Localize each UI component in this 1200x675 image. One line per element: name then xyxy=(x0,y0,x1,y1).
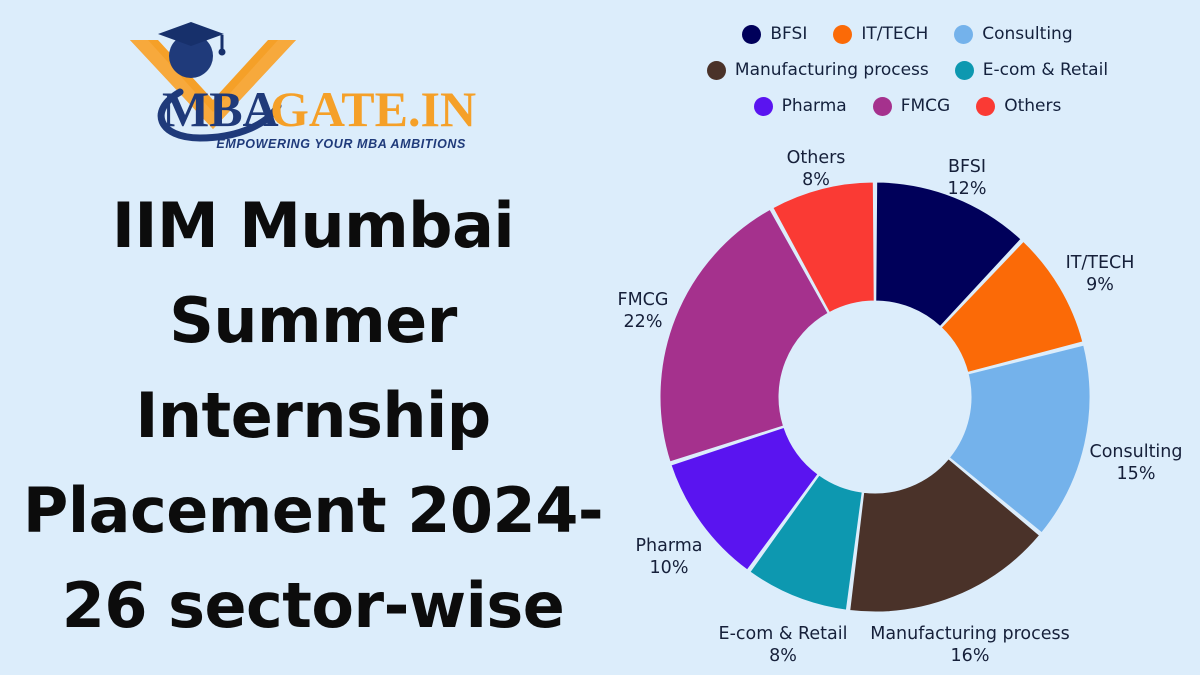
legend-item-ittech[interactable]: IT/TECH xyxy=(833,25,928,44)
page-title: IIM Mumbai Summer Internship Placement 2… xyxy=(20,178,606,653)
logo-graphic: MBA GATE.IN EMPOWERING YOUR MBA AMBITION… xyxy=(118,14,498,154)
legend-swatch-icon-ecom xyxy=(955,61,974,80)
donut-slice-fmcg[interactable] xyxy=(660,209,828,461)
slice-callout-pharma: Pharma 10% xyxy=(635,536,702,578)
logo-text-mba: MBA xyxy=(162,81,279,137)
left-panel: MBA GATE.IN EMPOWERING YOUR MBA AMBITION… xyxy=(0,0,615,675)
slice-label-consulting-pct: 15% xyxy=(1117,464,1156,484)
logo-text-gatein: GATE.IN xyxy=(270,81,476,137)
legend-item-consulting[interactable]: Consulting xyxy=(954,25,1072,44)
slice-label-ittech-pct: 9% xyxy=(1086,275,1114,295)
legend-item-manufacturing[interactable]: Manufacturing process xyxy=(707,61,929,80)
slice-label-manufacturing-name: Manufacturing process xyxy=(870,624,1070,644)
chart-panel: BFSI IT/TECH Consulting Manufacturing pr… xyxy=(615,0,1200,675)
legend-label-pharma: Pharma xyxy=(782,98,847,115)
donut-slice-it-tech[interactable] xyxy=(941,241,1083,372)
slice-callout-consulting: Consulting 15% xyxy=(1089,442,1182,484)
donut-slice-bfsi[interactable] xyxy=(876,182,1021,326)
slice-callout-ecom: E-com & Retail 8% xyxy=(719,624,848,666)
logo-cap-board-icon xyxy=(158,22,224,46)
legend-row-3: Pharma FMCG Others xyxy=(615,88,1200,124)
legend-label-bfsi: BFSI xyxy=(770,26,807,43)
legend-label-fmcg: FMCG xyxy=(901,98,951,115)
legend-swatch-icon-fmcg xyxy=(873,97,892,116)
slice-label-fmcg-pct: 22% xyxy=(624,312,663,332)
slice-label-ecom-name: E-com & Retail xyxy=(719,624,848,644)
logo-tagline: EMPOWERING YOUR MBA AMBITIONS xyxy=(216,137,466,151)
legend-row-1: BFSI IT/TECH Consulting xyxy=(615,16,1200,52)
slice-label-others-name: Others xyxy=(787,148,846,168)
slice-callout-ittech: IT/TECH 9% xyxy=(1066,253,1135,295)
slice-callout-bfsi: BFSI 12% xyxy=(948,157,987,199)
legend-swatch-icon-ittech xyxy=(833,25,852,44)
legend-swatch-icon-manufacturing xyxy=(707,61,726,80)
slice-label-manufacturing-pct: 16% xyxy=(951,646,990,666)
slice-label-pharma-name: Pharma xyxy=(635,536,702,556)
legend-row-2: Manufacturing process E-com & Retail xyxy=(615,52,1200,88)
slice-label-ecom-pct: 8% xyxy=(769,646,797,666)
slice-label-pharma-pct: 10% xyxy=(650,558,689,578)
legend-item-ecom[interactable]: E-com & Retail xyxy=(955,61,1108,80)
donut-slice-manufacturing-process[interactable] xyxy=(850,459,1040,612)
legend-label-ecom: E-com & Retail xyxy=(983,62,1108,79)
slice-label-others-pct: 8% xyxy=(802,170,830,190)
donut-slice-others[interactable] xyxy=(773,182,874,313)
legend-swatch-icon-others xyxy=(976,97,995,116)
slice-callout-fmcg: FMCG 22% xyxy=(618,290,669,332)
legend-item-others[interactable]: Others xyxy=(976,97,1061,116)
infographic-canvas: MBA GATE.IN EMPOWERING YOUR MBA AMBITION… xyxy=(0,0,1200,675)
slice-label-fmcg-name: FMCG xyxy=(618,290,669,310)
slice-label-bfsi-name: BFSI xyxy=(948,157,986,177)
legend-item-fmcg[interactable]: FMCG xyxy=(873,97,951,116)
legend-label-consulting: Consulting xyxy=(982,26,1072,43)
chart-legend: BFSI IT/TECH Consulting Manufacturing pr… xyxy=(615,16,1200,124)
donut-slice-pharma[interactable] xyxy=(671,427,818,570)
legend-item-pharma[interactable]: Pharma xyxy=(754,97,847,116)
legend-label-ittech: IT/TECH xyxy=(861,26,928,43)
slice-label-ittech-name: IT/TECH xyxy=(1066,253,1135,273)
slice-label-consulting-name: Consulting xyxy=(1089,442,1182,462)
slice-callout-others: Others 8% xyxy=(787,148,846,190)
legend-label-manufacturing: Manufacturing process xyxy=(735,62,929,79)
slice-label-bfsi-pct: 12% xyxy=(948,179,987,199)
mbagate-logo: MBA GATE.IN EMPOWERING YOUR MBA AMBITION… xyxy=(118,14,498,154)
slice-callout-manufacturing: Manufacturing process 16% xyxy=(870,624,1070,666)
legend-swatch-icon-consulting xyxy=(954,25,973,44)
donut-slice-consulting[interactable] xyxy=(949,345,1090,533)
legend-label-others: Others xyxy=(1004,98,1061,115)
donut-slice-group xyxy=(660,182,1090,612)
donut-slice-e-com-retail[interactable] xyxy=(750,475,862,610)
legend-swatch-icon-bfsi xyxy=(742,25,761,44)
legend-swatch-icon-pharma xyxy=(754,97,773,116)
legend-item-bfsi[interactable]: BFSI xyxy=(742,25,807,44)
logo-cap-tassel-bead-icon xyxy=(219,49,226,56)
